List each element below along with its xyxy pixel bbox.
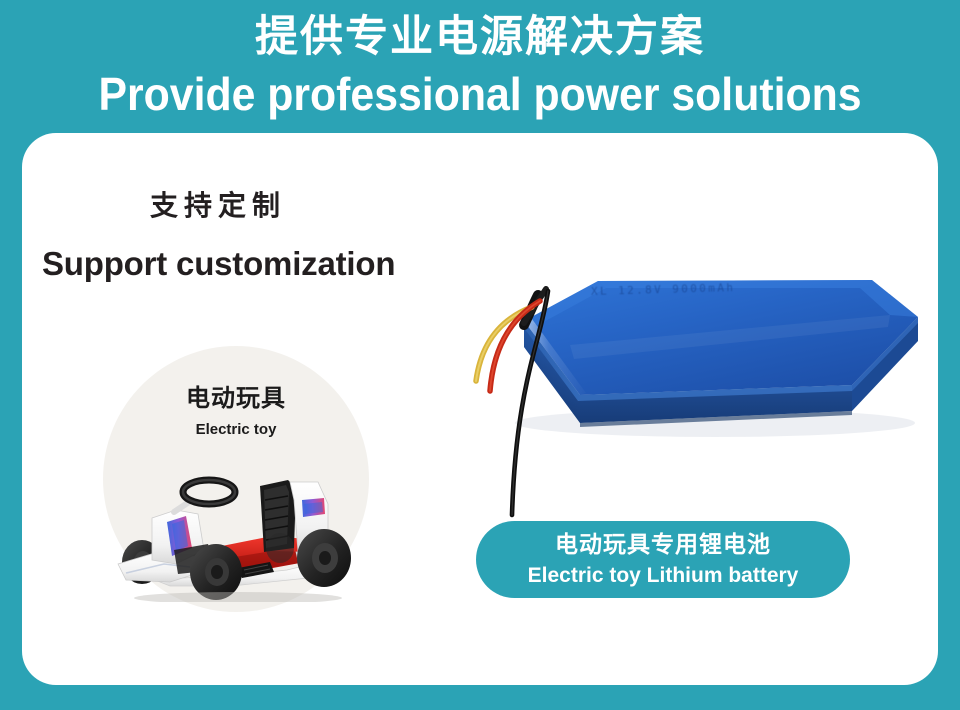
lithium-battery-image <box>420 195 960 540</box>
electric-toy-label-en: Electric toy <box>103 421 369 438</box>
electric-go-kart-image <box>112 452 364 602</box>
support-customization-label-en: Support customization <box>42 245 395 283</box>
header-title-en: Provide professional power solutions <box>34 69 927 119</box>
electric-toy-lithium-battery-badge: 电动玩具专用锂电池 Electric toy Lithium battery <box>476 521 850 598</box>
badge-label-cn: 电动玩具专用锂电池 <box>476 530 850 560</box>
header-title-cn: 提供专业电源解决方案 <box>0 11 960 63</box>
promo-banner: 提供专业电源解决方案 Provide professional power so… <box>0 0 960 710</box>
banner-header: 提供专业电源解决方案 Provide professional power so… <box>0 0 960 128</box>
support-customization-label-cn: 支持定制 <box>150 184 286 224</box>
electric-toy-label-cn: 电动玩具 <box>103 378 369 413</box>
badge-label-en: Electric toy Lithium battery <box>476 562 850 589</box>
